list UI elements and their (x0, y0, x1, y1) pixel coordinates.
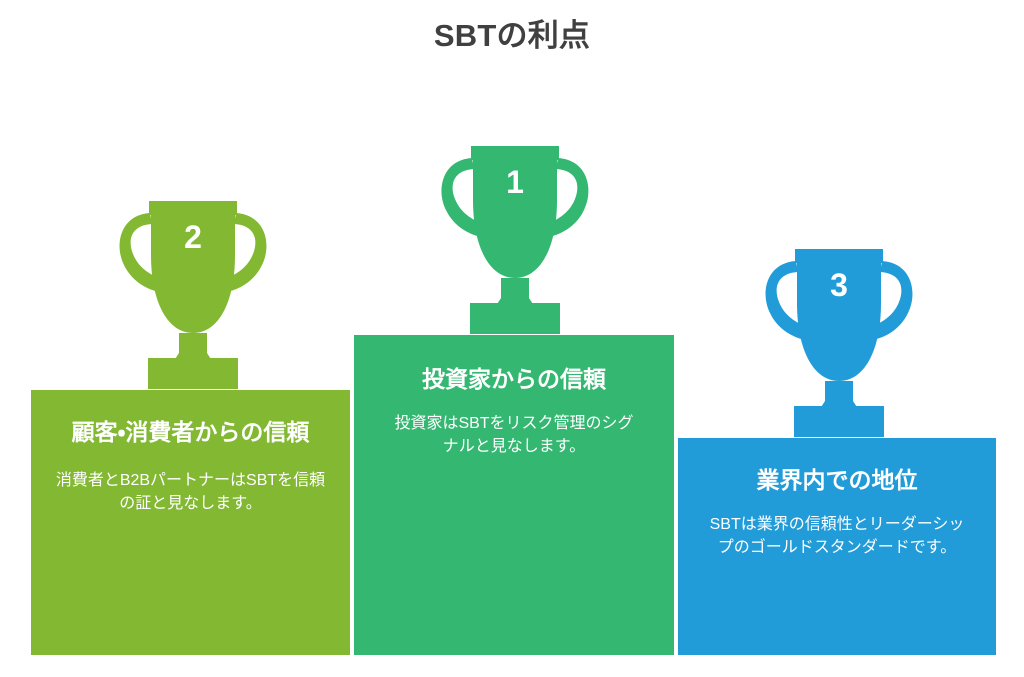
podium-body-text: 消費者とB2BパートナーはSBTを信頼の証と見なします。 (45, 470, 336, 515)
podium-body-text: SBTは業界の信頼性とリーダーシップのゴールドスタンダードです。 (692, 514, 982, 559)
podium-body-text: 投資家はSBTをリスク管理のシグナルと見なします。 (368, 413, 660, 458)
podium-block-rank-2: 顧客・消費者からの信頼 消費者とB2BパートナーはSBTを信頼の証と見なします。 (31, 390, 350, 655)
trophy-icon-rank-3: 3 (756, 241, 922, 437)
podium-heading: 投資家からの信頼 (368, 365, 660, 395)
podium-block-rank-1: 投資家からの信頼 投資家はSBTをリスク管理のシグナルと見なします。 (354, 335, 674, 655)
trophy-icon-rank-1: 1 (432, 138, 598, 334)
page-title: SBTの利点 (0, 18, 1024, 54)
podium-heading: 顧客・消費者からの信頼 (45, 418, 336, 448)
podium-block-rank-3: 業界内での地位 SBTは業界の信頼性とリーダーシップのゴールドスタンダードです。 (678, 438, 996, 655)
trophy-icon-rank-2: 2 (110, 193, 276, 389)
podium-heading: 業界内での地位 (692, 466, 982, 496)
